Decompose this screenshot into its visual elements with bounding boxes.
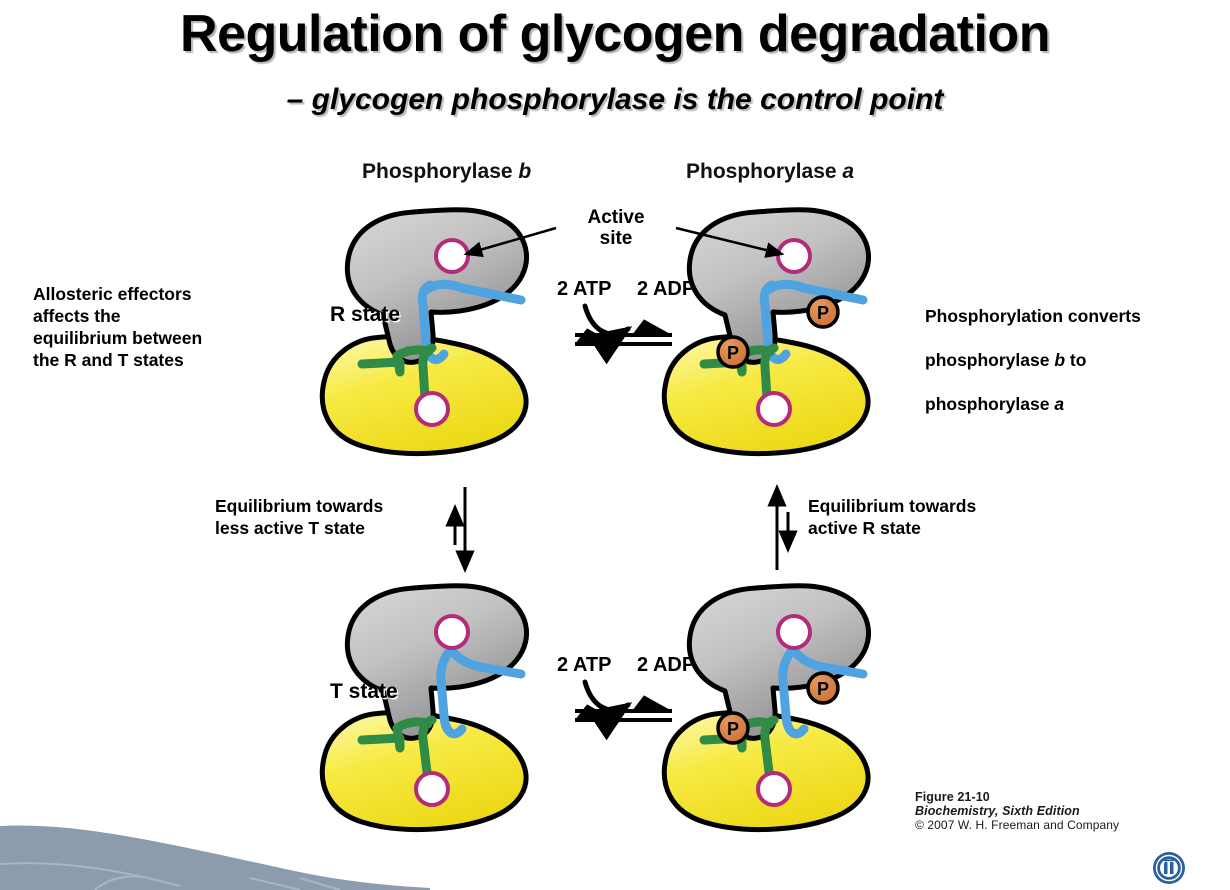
blue-tail xyxy=(764,285,786,360)
column-header-phosphorylase-b: Phosphorylase b xyxy=(362,160,531,184)
vertical-equilibrium-left xyxy=(455,487,465,570)
blue-tail-blocking xyxy=(441,648,462,734)
phosphate-badge-upper-icon: P xyxy=(808,297,838,327)
active-site-upper-icon xyxy=(778,240,810,272)
annotation-right-line-1: Phosphorylation converts xyxy=(925,305,1215,327)
active-site-label: Active site xyxy=(556,207,676,249)
figure-source: Biochemistry, Sixth Edition xyxy=(915,804,1119,818)
column-header-phosphorylase-b-text: Phosphorylase xyxy=(362,160,518,183)
annotation-right-line-2-a: phosphorylase xyxy=(925,350,1054,370)
annotation-right-line-2-italic: b xyxy=(1054,350,1065,370)
green-tail xyxy=(765,348,783,414)
reaction-product-label-top: 2 ADP xyxy=(637,278,695,301)
figure-copyright: © 2007 W. H. Freeman and Company xyxy=(915,818,1119,832)
column-header-phosphorylase-b-italic: b xyxy=(518,160,531,183)
annotation-phosphorylation-converts: Phosphorylation converts phosphorylase b… xyxy=(925,283,1215,437)
slide-canvas: Regulation of glycogen degradation – gly… xyxy=(0,0,1230,890)
reaction-labels-top: 2 ATP 2 ADP xyxy=(539,278,729,368)
green-tail-arm xyxy=(362,350,428,372)
active-site-upper-icon xyxy=(436,616,468,648)
reaction-substrate-label-bottom: 2 ATP xyxy=(557,654,611,677)
university-seal-logo-icon xyxy=(1152,851,1186,885)
green-tail-blocking xyxy=(423,720,432,789)
annotation-right-line-3-a: phosphorylase xyxy=(925,394,1054,414)
equilibrium-note-left: Equilibrium towards less active T state xyxy=(215,495,445,539)
vertical-equilibrium-right xyxy=(777,487,788,570)
active-site-upper-icon xyxy=(778,616,810,648)
blue-tail-arm xyxy=(794,650,863,674)
molecule-phosphorylase-b-t-state xyxy=(322,586,526,830)
svg-text:P: P xyxy=(817,679,829,699)
phosphate-badge-upper-icon: P xyxy=(808,673,838,703)
column-header-phosphorylase-a: Phosphorylase a xyxy=(686,160,854,184)
reaction-substrate-label-top: 2 ATP xyxy=(557,278,611,301)
active-site-lower-icon xyxy=(416,773,448,805)
upper-lobe-shape xyxy=(347,586,526,739)
state-label-t: T state xyxy=(330,680,398,704)
column-header-phosphorylase-a-text: Phosphorylase xyxy=(686,160,842,183)
page-subtitle: – glycogen phosphorylase is the control … xyxy=(0,83,1230,117)
lower-lobe-shape xyxy=(322,337,526,454)
active-site-lower-icon xyxy=(416,393,448,425)
active-site-lower-icon xyxy=(758,773,790,805)
blue-tail-arm xyxy=(770,284,863,300)
column-header-phosphorylase-a-italic: a xyxy=(842,160,854,183)
equilibrium-note-right: Equilibrium towards active R state xyxy=(808,495,1038,539)
svg-text:P: P xyxy=(817,303,829,323)
figure-credit: Figure 21-10 Biochemistry, Sixth Edition… xyxy=(915,790,1119,832)
diagram-artwork: P P xyxy=(0,0,1230,890)
state-label-r: R state xyxy=(330,303,400,327)
green-tail-arm xyxy=(362,722,428,748)
molecule-phosphorylase-b-r-state xyxy=(322,210,526,454)
active-site-lower-icon xyxy=(758,393,790,425)
reaction-product-label-bottom: 2 ADP xyxy=(637,654,695,677)
blue-tail-arm xyxy=(452,650,521,674)
decorative-wave xyxy=(0,812,430,890)
annotation-right-line-3-italic: a xyxy=(1054,394,1064,414)
annotation-allosteric-effectors: Allosteric effectors affects the equilib… xyxy=(33,283,323,371)
blue-tail xyxy=(422,285,444,360)
reaction-labels-bottom: 2 ATP 2 ADP xyxy=(539,654,729,744)
blue-tail-arm xyxy=(428,284,521,300)
annotation-right-line-2-b: to xyxy=(1065,350,1086,370)
page-title: Regulation of glycogen degradation xyxy=(0,4,1230,64)
blue-tail-blocking xyxy=(783,648,804,734)
upper-lobe-shape xyxy=(347,210,526,363)
active-site-upper-icon xyxy=(436,240,468,272)
figure-number: Figure 21-10 xyxy=(915,790,1119,804)
annotation-right-line-3: phosphorylase a xyxy=(925,393,1215,415)
annotation-right-line-2: phosphorylase b to xyxy=(925,349,1215,371)
green-tail-blocking xyxy=(765,720,774,789)
green-tail xyxy=(423,348,441,414)
